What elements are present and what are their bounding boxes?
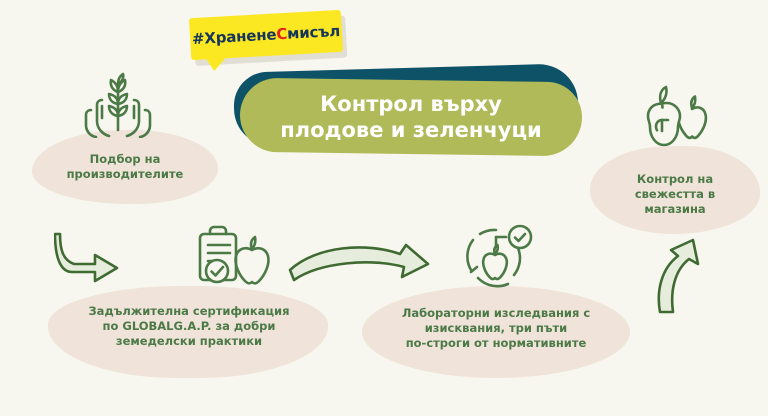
hands-holding-wheat-icon bbox=[80, 72, 156, 142]
page-title: Контрол върху плодове и зеленчуци bbox=[240, 80, 582, 154]
arrow-certification-to-lab-icon bbox=[288, 240, 430, 294]
hashtag-text-after: мисъл bbox=[287, 22, 341, 43]
headline-line-1: Контрол върху bbox=[320, 91, 502, 117]
step-freshness-label: Контрол на свежестта в магазина bbox=[592, 172, 758, 217]
headline-banner: Контрол върху плодове и зеленчуци bbox=[228, 68, 582, 154]
step-lab-label: Лабораторни изследвания с изисквания, тр… bbox=[370, 306, 622, 351]
headline-line-2: плодове и зеленчуци bbox=[280, 117, 542, 143]
step-certification-label: Задължителна сертификация по GLOBALG.A.P… bbox=[60, 304, 318, 349]
arrow-lab-to-freshness-icon bbox=[654, 238, 716, 318]
clipboard-check-apple-icon bbox=[190, 224, 286, 298]
hashtag-tag-label: #ХраненеСмисъл bbox=[189, 10, 343, 60]
hashtag-tag: #ХраненеСмисъл bbox=[189, 10, 343, 60]
step-producers: Подбор на производителите bbox=[18, 72, 218, 204]
apple-analysis-check-icon bbox=[458, 224, 536, 298]
pear-apple-icon bbox=[628, 84, 712, 158]
infographic-canvas: #ХраненеСмисъл Контрол върху плодове и з… bbox=[0, 0, 768, 416]
arrow-producers-to-certification-icon bbox=[54, 232, 130, 296]
step-freshness: Контрол на свежестта в магазина bbox=[576, 84, 760, 232]
hashtag-text-before: #Хранене bbox=[192, 25, 277, 48]
step-producers-label: Подбор на производителите bbox=[32, 152, 218, 182]
